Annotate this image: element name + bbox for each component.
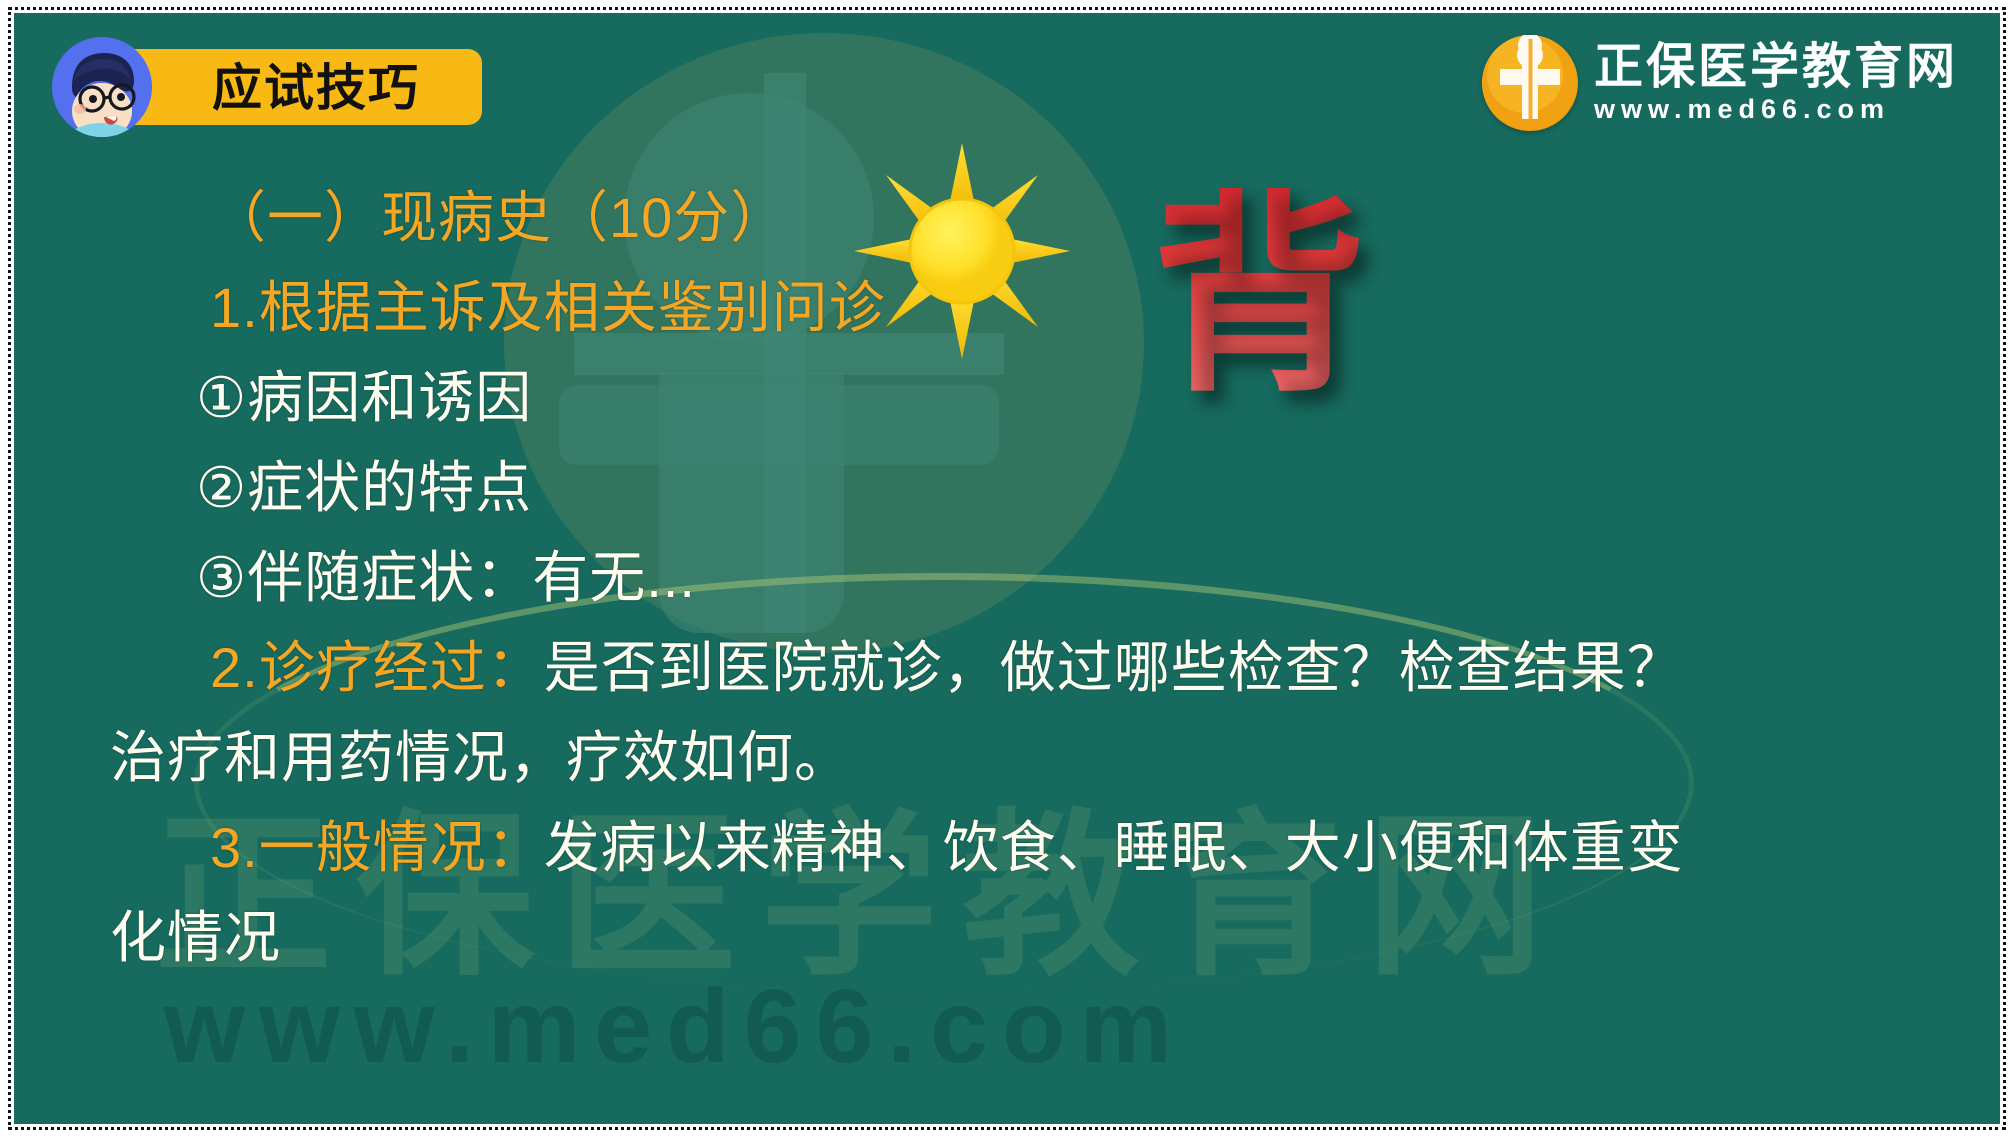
line-run: ①病因和诱因 [196,366,532,429]
line-run: 1.根据主诉及相关鉴别问诊 [210,276,886,339]
content-line: 1.根据主诉及相关鉴别问诊 [110,263,1670,353]
content-line: ②症状的特点 [110,443,1670,533]
medical-cross-circle-icon [1482,35,1578,131]
badge-label: 应试技巧 [212,57,420,119]
content-line: 2.诊疗经过：是否到医院就诊，做过哪些检查？检查结果？ [110,623,1670,713]
page-root: 正保医学教育网 www.med66.com 应试技巧 [0,0,2014,1139]
line-run: 发病以来精神、饮食、睡眠、大小便和体重变 [544,816,1684,879]
page-title: （一）现病史（10分） [110,173,1670,263]
dotted-frame: 正保医学教育网 www.med66.com 应试技巧 [8,7,2006,1130]
content-line: 治疗和用药情况，疗效如何。 [110,713,1670,803]
brand-logo: 正保医学教育网 www.med66.com [1482,35,1958,131]
logo-brand-name: 正保医学教育网 [1594,43,1958,92]
line-run: 2.诊疗经过： [210,636,544,699]
line-run: ③伴随症状：有无... [196,546,696,609]
content-line: 3.一般情况：发病以来精神、饮食、睡眠、大小便和体重变 [110,803,1670,893]
content-line: ③伴随症状：有无... [110,533,1670,623]
watermark-url: www.med66.com [164,968,1186,1087]
logo-url: www.med66.com [1594,96,1958,123]
line-run: 化情况 [110,906,281,969]
content-lines: 1.根据主诉及相关鉴别问诊①病因和诱因②症状的特点③伴随症状：有无...2.诊疗… [110,263,1670,983]
content-line: 化情况 [110,893,1670,983]
line-run: ②症状的特点 [196,456,532,519]
line-run: 治疗和用药情况，疗效如何。 [110,726,851,789]
student-avatar-icon [52,37,152,137]
slide-canvas: 正保医学教育网 www.med66.com 应试技巧 [14,13,2000,1124]
exam-tips-badge: 应试技巧 [52,43,152,131]
line-run: 3.一般情况： [210,816,544,879]
slide-body-text: （一）现病史（10分） 1.根据主诉及相关鉴别问诊①病因和诱因②症状的特点③伴随… [110,173,1670,983]
content-line: ①病因和诱因 [110,353,1670,443]
heading-text: （一）现病史（10分） [210,186,787,249]
line-run: 是否到医院就诊，做过哪些检查？检查结果？ [544,636,1684,699]
